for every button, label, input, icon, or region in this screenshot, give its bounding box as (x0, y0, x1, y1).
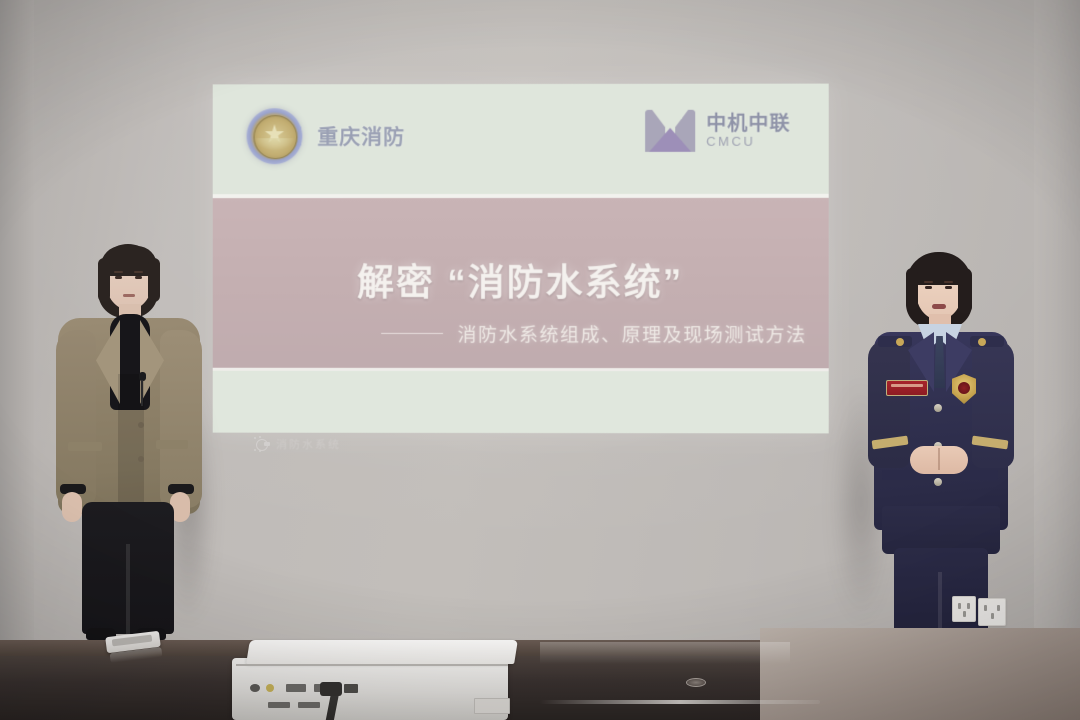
presenter-right-eye (925, 286, 932, 289)
epaulette-insignia-icon (896, 338, 904, 346)
presenter-right-epaulette (878, 336, 912, 347)
desk-reflection (540, 642, 790, 664)
slide-logo-row: 重庆消防 中机中联 CMCU (213, 84, 829, 195)
emblem-wings (255, 138, 295, 150)
presenter-left-arm (160, 330, 202, 508)
projector-cable-plug (320, 682, 342, 696)
desk-cable-grommet (686, 678, 706, 687)
presenter-right-pocket-flap (960, 470, 998, 480)
projector-port (344, 684, 358, 693)
fire-service-emblem-icon (247, 108, 303, 164)
presenter-left-button (138, 456, 144, 462)
photo-scene: 重庆消防 中机中联 CMCU 解密 “消防水系统” 消防水系统组成、原理及现场测… (0, 0, 1080, 720)
slide-subtitle-row: 消防水系统组成、原理及现场测试方法 (213, 320, 829, 347)
presenter-right-jacket-skirt (882, 506, 1000, 554)
slide-subtitle: 消防水系统组成、原理及现场测试方法 (458, 320, 807, 347)
presenter-right-eye (945, 286, 952, 289)
projector-seam (236, 664, 508, 666)
presenter-left-eye (135, 276, 142, 279)
presenter-right-hair-side (958, 268, 972, 314)
projector-port (286, 684, 306, 692)
projector-port (266, 684, 274, 692)
desk-side-panel (760, 628, 1080, 720)
outlet-slot (958, 603, 961, 609)
presenter-right-mouth (932, 304, 946, 309)
logo-left-label: 重庆消防 (317, 121, 405, 151)
presenter-left-pocket (156, 440, 188, 449)
presenter-right-button (934, 478, 942, 486)
presenter-right-hair-side (906, 268, 918, 310)
projector-port (298, 702, 320, 708)
slide-title: 解密 “消防水系统” (213, 252, 829, 306)
projector-port (250, 684, 260, 692)
presenter-left-brow (114, 271, 123, 273)
wall-left-edge (0, 0, 34, 660)
microphone-wire (141, 380, 143, 406)
outlet-slot (963, 611, 966, 617)
presenter-left-button (138, 422, 144, 428)
wall-outlet-left[interactable] (952, 596, 976, 622)
subtitle-rule (382, 333, 444, 334)
cmcu-mountain-mark-icon (645, 110, 695, 152)
epaulette-insignia-icon (978, 338, 986, 346)
projected-slide: 重庆消防 中机中联 CMCU 解密 “消防水系统” 消防水系统组成、原理及现场测… (213, 84, 829, 434)
remote-control[interactable] (106, 634, 164, 660)
cmcu-label-en: CMCU (706, 134, 790, 148)
presenter-left-hair-side (98, 258, 110, 302)
projector-top-lid (246, 640, 518, 664)
sprinkler-head-icon (254, 437, 270, 451)
logo-chongqing-fire: 重庆消防 (247, 108, 406, 164)
projector-label (474, 698, 510, 714)
cmcu-text-block: 中机中联 CMCU (706, 113, 790, 148)
wall-right-edge (1034, 0, 1080, 660)
watermark: 消防水系统 (254, 436, 341, 452)
presenter-left-arm (56, 330, 96, 506)
presenter-right-hand-split (938, 448, 940, 470)
presenter-left (40, 244, 216, 640)
watermark-text: 消防水系统 (276, 436, 341, 452)
presenter-left-hand (62, 492, 82, 522)
sprinkler-spray-dot (254, 449, 256, 451)
presenter-left-mouth (123, 294, 135, 297)
presenter-left-pocket (68, 442, 102, 451)
sprinkler-nozzle (264, 442, 270, 446)
presenter-right-pocket-flap (882, 470, 920, 480)
logo-cmcu: 中机中联 CMCU (645, 110, 790, 152)
presenter-right-epaulette (970, 336, 1004, 347)
slide-band-bottom (213, 371, 829, 434)
presenter-right-name-tag (886, 380, 928, 396)
outlet-slot (967, 603, 970, 609)
projector-port (268, 702, 290, 708)
presenter-right-arm (972, 340, 1014, 468)
wall-outlet-right[interactable] (978, 598, 1006, 626)
outlet-slot (984, 605, 987, 611)
outlet-slot (997, 605, 1000, 611)
chest-badge-center (958, 382, 970, 394)
outlet-slot (991, 613, 994, 619)
presenter-right (852, 252, 1028, 648)
presenter-left-eye (115, 276, 122, 279)
name-tag-text-line (891, 384, 923, 387)
presenter-left-hair-side (148, 258, 160, 302)
projector[interactable] (232, 640, 522, 720)
cmcu-label-cn: 中机中联 (706, 113, 790, 134)
desk-edge-highlight (540, 700, 820, 704)
presenter-left-leg-gap (126, 544, 130, 634)
sprinkler-spray-dot (254, 437, 256, 439)
presenter-right-brow (924, 281, 933, 283)
presenter-right-brow (944, 281, 953, 283)
presenter-right-button (934, 404, 942, 412)
presenter-left-brow (134, 271, 143, 273)
